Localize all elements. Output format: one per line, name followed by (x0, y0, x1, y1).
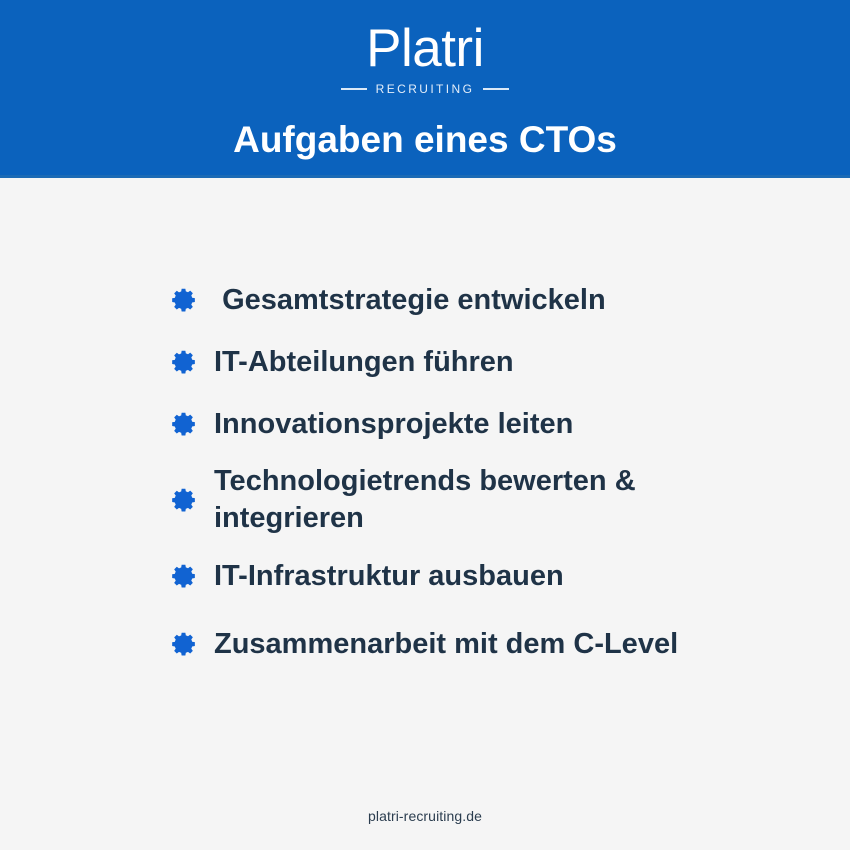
brand-logo: Platri RECRUITING (341, 22, 510, 95)
poster-root: Platri RECRUITING Aufgaben eines CTOs Ge… (0, 0, 850, 850)
footer: platri-recruiting.de (0, 808, 850, 826)
brand-tagline: RECRUITING (376, 83, 475, 95)
page-title: Aufgaben eines CTOs (233, 119, 617, 161)
list-item: IT-Abteilungen führen (170, 344, 750, 381)
list-item-label: Technologietrends bewerten & integrieren (214, 463, 742, 537)
list-item-label: IT-Abteilungen führen (214, 344, 514, 381)
brand-rule-right-icon (483, 88, 509, 90)
list-item-label: Zusammenarbeit mit dem C-Level (214, 626, 678, 663)
brand-tagline-row: RECRUITING (341, 83, 510, 95)
gear-icon (170, 410, 198, 438)
header-banner: Platri RECRUITING Aufgaben eines CTOs (0, 0, 850, 178)
gear-icon (170, 630, 198, 658)
gear-icon (170, 348, 198, 376)
gear-icon (170, 562, 198, 590)
list-item: Technologietrends bewerten & integrieren (170, 463, 750, 537)
list-item: Gesamtstrategie entwickeln (170, 282, 750, 319)
gear-icon (170, 286, 198, 314)
list-item: IT-Infrastruktur ausbauen (170, 558, 750, 595)
list-item-label: IT-Infrastruktur ausbauen (214, 558, 564, 595)
brand-rule-left-icon (341, 88, 367, 90)
brand-name: Platri (366, 22, 484, 76)
website-url: platri-recruiting.de (368, 808, 482, 824)
list-item: Innovationsprojekte leiten (170, 406, 750, 443)
content-area: Gesamtstrategie entwickeln IT-Abteilunge… (0, 178, 850, 850)
gear-icon (170, 486, 198, 514)
list-item-label: Innovationsprojekte leiten (214, 406, 573, 443)
list-item: Zusammenarbeit mit dem C-Level (170, 626, 750, 663)
list-item-label: Gesamtstrategie entwickeln (214, 282, 606, 319)
task-list: Gesamtstrategie entwickeln IT-Abteilunge… (170, 282, 750, 688)
